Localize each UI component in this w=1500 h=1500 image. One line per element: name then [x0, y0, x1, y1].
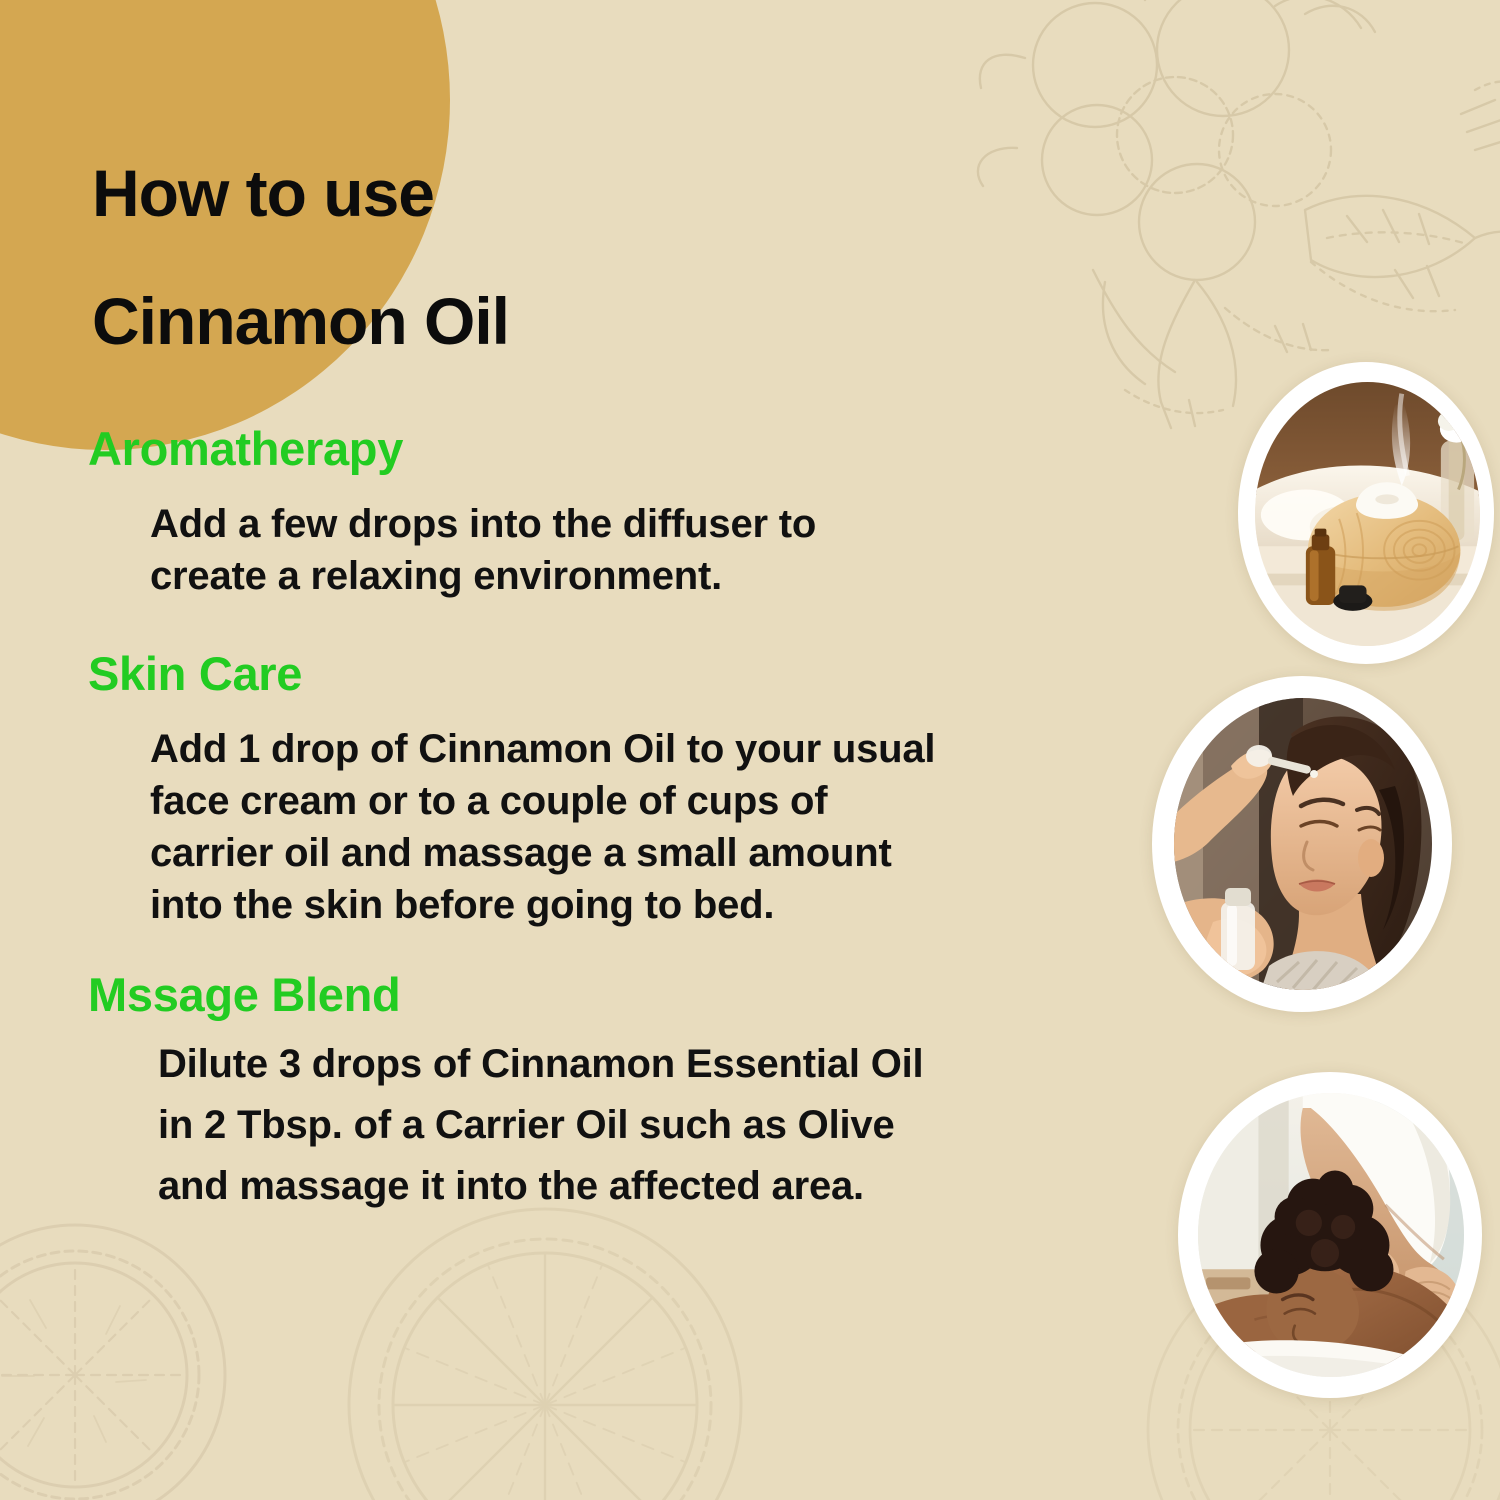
- usage-sections: Aromatherapy Add a few drops into the di…: [0, 425, 1000, 1216]
- botanical-sprig-watermark: [975, 0, 1500, 440]
- citrus-slice-watermark-center: [330, 1190, 760, 1500]
- section-aromatherapy: Aromatherapy Add a few drops into the di…: [0, 425, 1000, 602]
- massage-blend-image: [1198, 1093, 1464, 1377]
- citrus-slice-watermark-left: [0, 1210, 240, 1500]
- section-body-massage-blend: Dilute 3 drops of Cinnamon Essential Oil…: [158, 1034, 948, 1216]
- infographic-poster: How to use Cinnamon Oil Aromatherapy Add…: [0, 0, 1500, 1500]
- page-title: How to use Cinnamon Oil: [92, 160, 912, 354]
- aromatherapy-diffuser-photo: [1238, 362, 1494, 664]
- massage-blend-photo: [1178, 1072, 1482, 1398]
- section-body-skin-care: Add 1 drop of Cinnamon Oil to your usual…: [150, 723, 940, 931]
- section-skin-care: Skin Care Add 1 drop of Cinnamon Oil to …: [0, 650, 1000, 931]
- section-heading-aromatherapy: Aromatherapy: [88, 425, 1000, 472]
- section-massage-blend: Mssage Blend Dilute 3 drops of Cinnamon …: [0, 971, 1000, 1216]
- section-heading-massage-blend: Mssage Blend: [88, 971, 1000, 1018]
- section-heading-skin-care: Skin Care: [88, 650, 1000, 697]
- aromatherapy-diffuser-image: [1255, 382, 1480, 646]
- skin-care-serum-image: [1174, 698, 1432, 990]
- skin-care-serum-photo: [1152, 676, 1452, 1012]
- title-line-one: How to use: [92, 160, 912, 226]
- section-body-aromatherapy: Add a few drops into the diffuser to cre…: [150, 498, 940, 602]
- title-line-two: Cinnamon Oil: [92, 288, 912, 354]
